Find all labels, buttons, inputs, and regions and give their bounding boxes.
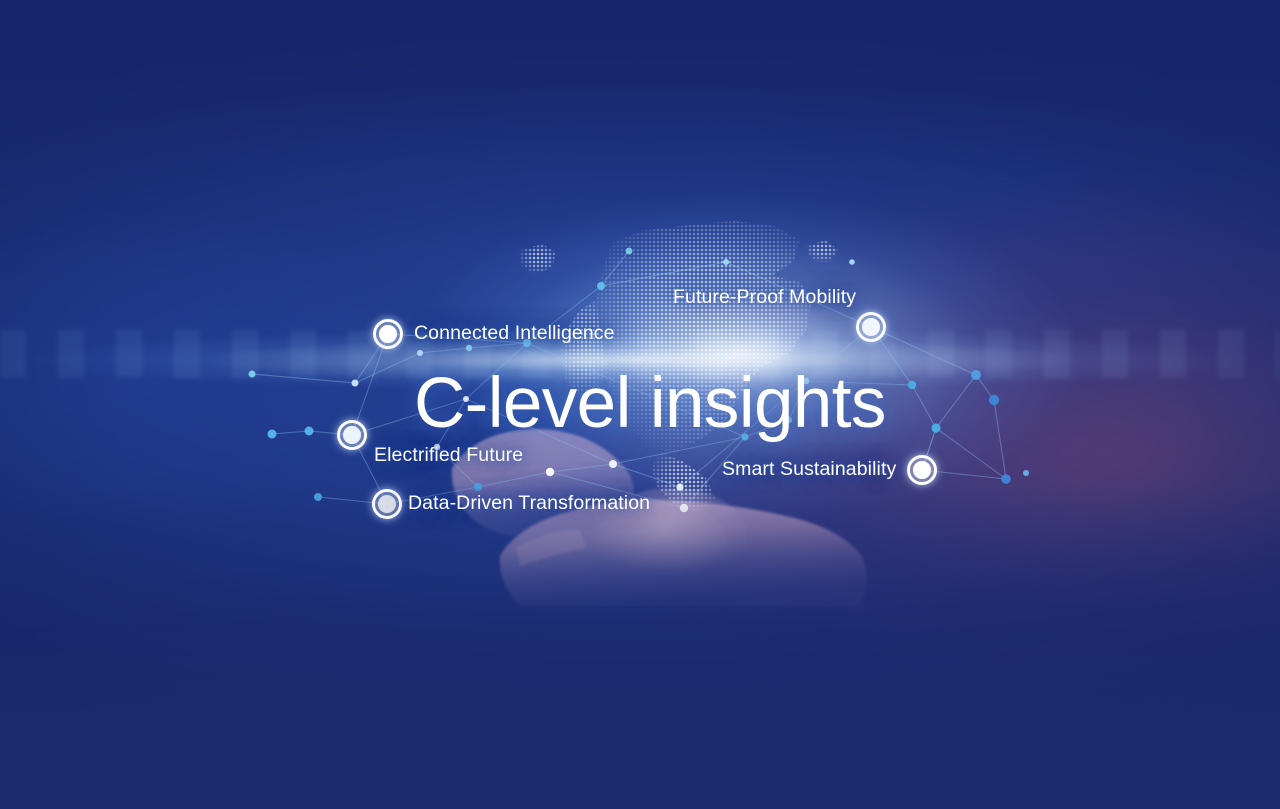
topic-label-connected-intelligence: Connected Intelligence (414, 322, 615, 345)
topic-node-future-proof-mobility[interactable] (856, 312, 886, 342)
node-core-icon (379, 325, 397, 343)
node-core-icon (913, 461, 931, 479)
page-title: C-level insights (414, 363, 886, 444)
topic-label-data-driven-transformation: Data-Driven Transformation (408, 492, 650, 515)
topic-node-connected-intelligence[interactable] (373, 319, 403, 349)
node-core-icon (378, 495, 396, 513)
hero-banner: Connected IntelligenceFuture-Proof Mobil… (0, 0, 1280, 809)
topic-label-future-proof-mobility: Future-Proof Mobility (673, 286, 856, 309)
topic-label-smart-sustainability: Smart Sustainability (722, 458, 896, 481)
topic-node-electrified-future[interactable] (337, 420, 367, 450)
topic-node-smart-sustainability[interactable] (907, 455, 937, 485)
topic-label-electrified-future: Electrified Future (374, 444, 523, 467)
node-core-icon (862, 318, 880, 336)
node-core-icon (343, 426, 361, 444)
topic-node-data-driven-transformation[interactable] (372, 489, 402, 519)
